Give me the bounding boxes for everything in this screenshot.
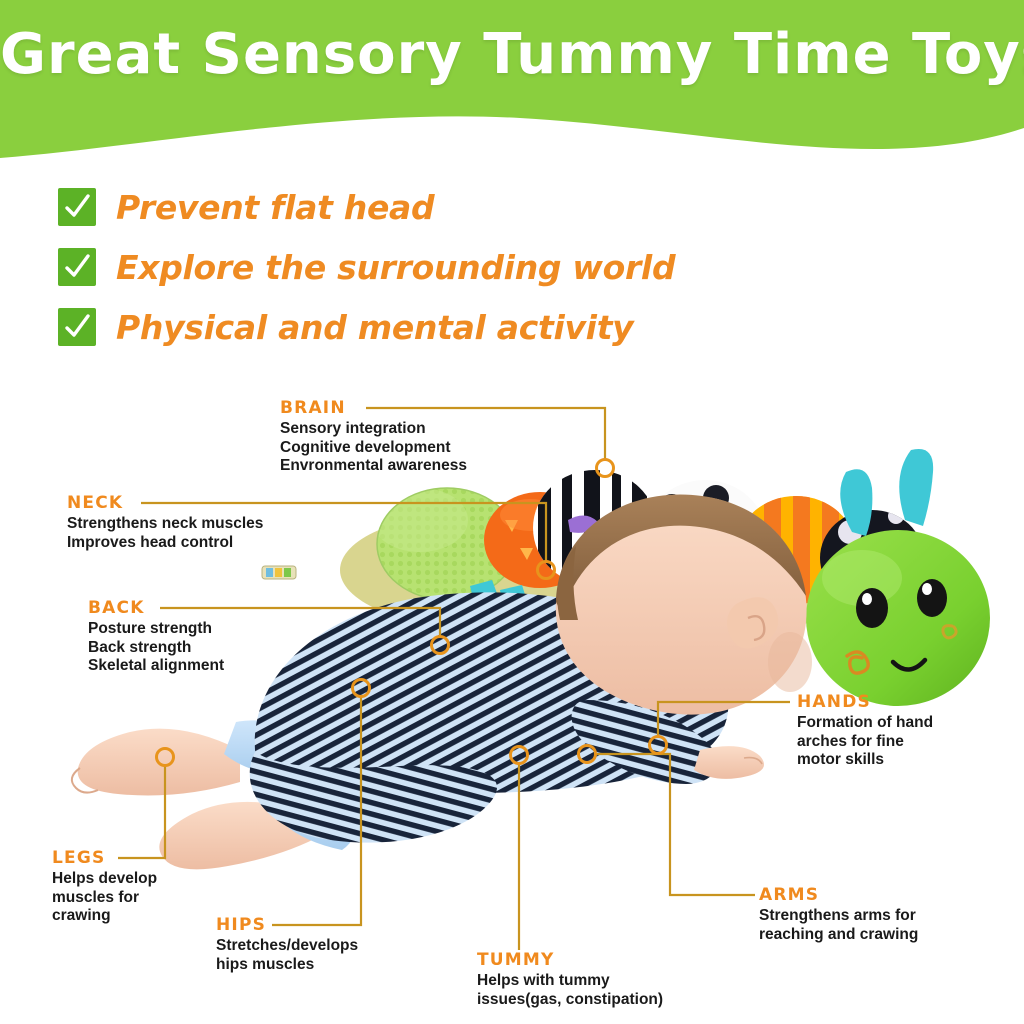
callout-hips: HIPS Stretches/develops hips muscles <box>216 915 358 974</box>
callout-hips-title: HIPS <box>216 915 358 935</box>
check-icon <box>58 188 96 226</box>
callout-neck-body: Strengthens neck muscles Improves head c… <box>67 515 263 552</box>
benefit-item-2: Physical and mental activity <box>58 305 818 349</box>
callout-line: reaching and crawing <box>759 926 918 945</box>
callout-tummy-title: TUMMY <box>477 950 663 970</box>
callout-legs: LEGS Helps develop muscles for crawing <box>52 848 157 926</box>
callout-line: hips muscles <box>216 956 358 975</box>
callout-hands: HANDS Formation of hand arches for fine … <box>797 692 933 770</box>
callout-line: Stretches/develops <box>216 937 358 956</box>
callout-line: Improves head control <box>67 534 263 553</box>
callout-line: Strengthens neck muscles <box>67 515 263 534</box>
callout-line: Helps with tummy <box>477 972 663 991</box>
callout-line: issues(gas, constipation) <box>477 991 663 1010</box>
benefits-list: Prevent flat head Explore the surroundin… <box>58 185 818 365</box>
callout-neck-title: NECK <box>67 493 263 513</box>
callout-line: Strengthens arms for <box>759 907 918 926</box>
callout-line: Sensory integration <box>280 420 467 439</box>
callout-line: Skeletal alignment <box>88 657 224 676</box>
benefit-label: Physical and mental activity <box>116 308 633 347</box>
callout-line: Formation of hand <box>797 714 933 733</box>
infographic-page: Great Sensory Tummy Time Toys Prevent fl… <box>0 0 1024 1024</box>
callout-arms-title: ARMS <box>759 885 918 905</box>
benefit-label: Explore the surrounding world <box>116 248 675 287</box>
callout-legs-body: Helps develop muscles for crawing <box>52 870 157 926</box>
callout-line: arches for fine <box>797 733 933 752</box>
callout-line: Envronmental awareness <box>280 457 467 476</box>
callout-back: BACK Posture strength Back strength Skel… <box>88 598 224 676</box>
check-icon <box>58 308 96 346</box>
callout-hands-title: HANDS <box>797 692 933 712</box>
callout-line: crawing <box>52 907 157 926</box>
callout-line: Posture strength <box>88 620 224 639</box>
callout-legs-title: LEGS <box>52 848 157 868</box>
benefit-item-0: Prevent flat head <box>58 185 818 229</box>
check-icon <box>58 248 96 286</box>
benefit-label: Prevent flat head <box>116 188 434 227</box>
header-banner: Great Sensory Tummy Time Toys <box>0 0 1024 172</box>
callout-back-title: BACK <box>88 598 224 618</box>
benefit-item-1: Explore the surrounding world <box>58 245 818 289</box>
callout-arms: ARMS Strengthens arms for reaching and c… <box>759 885 918 944</box>
callout-line: muscles for <box>52 889 157 908</box>
page-title: Great Sensory Tummy Time Toys <box>0 22 1024 87</box>
callout-hips-body: Stretches/develops hips muscles <box>216 937 358 974</box>
callout-arms-body: Strengthens arms for reaching and crawin… <box>759 907 918 944</box>
callout-back-body: Posture strength Back strength Skeletal … <box>88 620 224 676</box>
callout-line: Helps develop <box>52 870 157 889</box>
callout-brain-title: BRAIN <box>280 398 467 418</box>
callout-hands-body: Formation of hand arches for fine motor … <box>797 714 933 770</box>
callout-line: Cognitive development <box>280 439 467 458</box>
callout-brain: BRAIN Sensory integration Cognitive deve… <box>280 398 467 476</box>
callout-tummy-body: Helps with tummy issues(gas, constipatio… <box>477 972 663 1009</box>
callout-brain-body: Sensory integration Cognitive developmen… <box>280 420 467 476</box>
callout-tummy: TUMMY Helps with tummy issues(gas, const… <box>477 950 663 1009</box>
callout-line: Back strength <box>88 639 224 658</box>
callout-neck: NECK Strengthens neck muscles Improves h… <box>67 493 263 552</box>
callout-line: motor skills <box>797 751 933 770</box>
